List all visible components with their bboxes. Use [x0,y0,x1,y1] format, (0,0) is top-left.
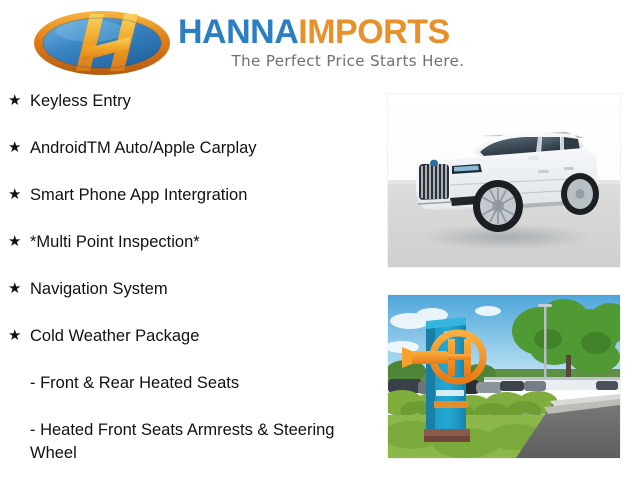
feature-sub-label: - Front & Rear Heated Seats [30,372,239,395]
feature-sub-label: - Heated Front Seats Armrests & Steering… [30,419,360,465]
brand-name-hanna: HANNA [178,13,298,51]
brand-name-imports: IMPORTS [298,13,449,51]
star-icon: ★ [8,90,30,112]
brand-wordmark-block: HANNAIMPORTS The Perfect Price Starts He… [178,14,518,70]
dealership-photo [388,295,620,458]
star-icon: ★ [8,325,30,347]
feature-label: Navigation System [30,278,168,300]
list-item: ★ *Multi Point Inspection* [0,231,378,278]
list-item: ★ Cold Weather Package [0,325,378,372]
list-item-sub: - Front & Rear Heated Seats [0,372,378,419]
list-item-sub: - Heated Front Seats Armrests & Steering… [0,419,378,465]
vehicle-feature-list: ★ Keyless Entry ★ AndroidTM Auto/Apple C… [0,90,378,465]
list-item: ★ AndroidTM Auto/Apple Carplay [0,137,378,184]
feature-label: Smart Phone App Intergration [30,184,247,206]
star-icon: ★ [8,231,30,253]
feature-label: *Multi Point Inspection* [30,231,200,253]
list-item: ★ Navigation System [0,278,378,325]
brand-header: HANNAIMPORTS The Perfect Price Starts He… [0,0,640,88]
brand-tagline: The Perfect Price Starts Here. [178,52,518,70]
feature-label: Keyless Entry [30,90,131,112]
brand-wordmark: HANNAIMPORTS [178,14,518,50]
feature-label: AndroidTM Auto/Apple Carplay [30,137,257,159]
list-item: ★ Smart Phone App Intergration [0,184,378,231]
star-icon: ★ [8,278,30,300]
hanna-oval-h-logo-icon [32,9,172,77]
star-icon: ★ [8,184,30,206]
star-icon: ★ [8,137,30,159]
vehicle-photo [388,94,620,267]
list-item: ★ Keyless Entry [0,90,378,137]
feature-label: Cold Weather Package [30,325,199,347]
